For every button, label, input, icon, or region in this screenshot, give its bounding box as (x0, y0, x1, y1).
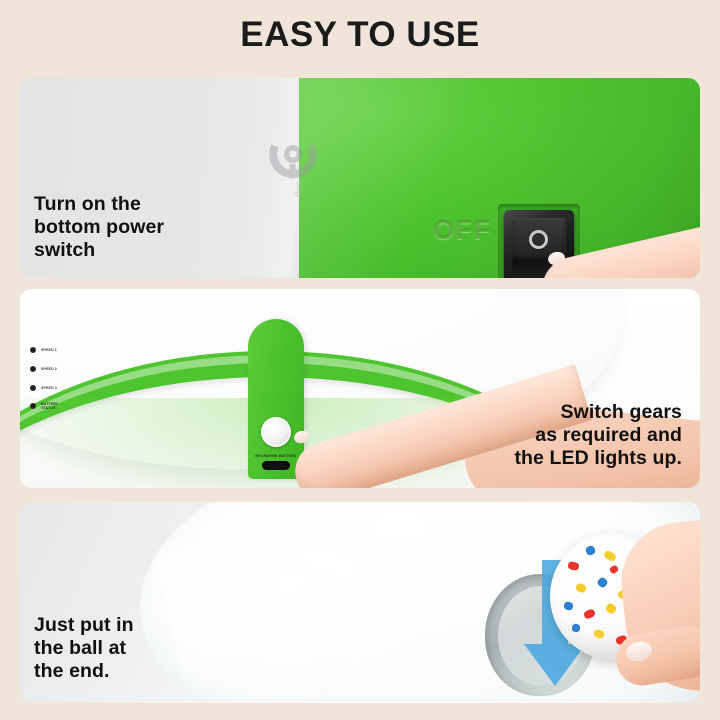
switch-on-label: ON (433, 276, 477, 278)
switch-off-label: OFF (433, 215, 492, 246)
fingernail (293, 429, 311, 445)
led-indicator-2: SPEED 2 (30, 366, 57, 372)
ball-speck (593, 629, 605, 640)
led-label-3: SPEED 3 (41, 386, 57, 390)
led-dot-icon (30, 347, 36, 353)
panel-power-switch: ou me: 5 Ho UK CA this OFF ON Turn on th… (20, 78, 700, 278)
gear-power-button[interactable] (261, 417, 291, 447)
panel-insert-ball: Just put in the ball at the end. (20, 502, 700, 703)
ball-speck (571, 623, 581, 633)
led-indicator-4: BATTERY STATUS (30, 402, 58, 411)
ball-speck (585, 545, 597, 557)
panel-3-caption: Just put in the ball at the end. (34, 614, 134, 683)
led-label-1: SPEED 1 (41, 348, 57, 352)
fcc-mark-icon (266, 128, 320, 182)
led-indicator-1: SPEED 1 (30, 347, 57, 353)
ball-speck (596, 576, 609, 589)
page-title: EASY TO USE (0, 14, 720, 56)
product-label-artwork: ou me: 5 Ho UK CA this (170, 78, 320, 272)
led-indicator-3: SPEED 3 (30, 385, 57, 391)
ball-speck (563, 601, 573, 611)
hand-pressing-switch (540, 196, 700, 278)
usb-c-charging-port (262, 461, 290, 470)
ball-speck (575, 582, 587, 593)
ball-speck (567, 561, 580, 571)
led-dot-icon (30, 385, 36, 391)
index-finger (535, 217, 700, 278)
led-dot-icon (30, 366, 36, 372)
led-label-2: SPEED 2 (41, 367, 57, 371)
label-line-this: this (294, 180, 305, 197)
panel-2-caption: Switch gears as required and the LED lig… (514, 401, 682, 470)
panel-1-caption: Turn on the bottom power switch (34, 193, 164, 262)
led-dot-icon (30, 403, 36, 409)
ball-speck (583, 608, 596, 620)
led-label-4: BATTERY STATUS (41, 402, 58, 411)
panel-gear-leds: SPEED 1 SPEED 2 SPEED 3 BATTERY STATUS R… (20, 289, 700, 488)
